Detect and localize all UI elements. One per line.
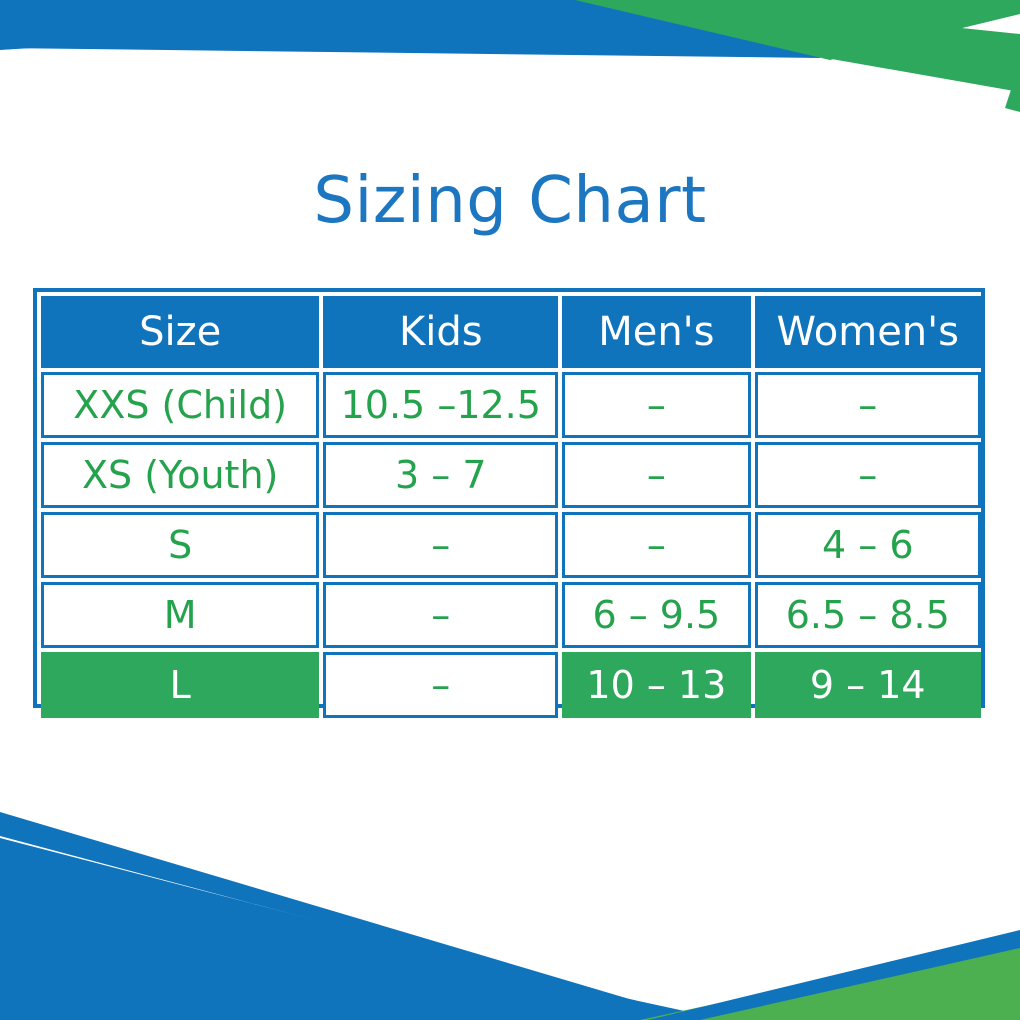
top-right-green-band-1 bbox=[575, 0, 1020, 60]
sizing-chart-table: Size Kids Men's Women's XXS (Child) 10.5… bbox=[37, 292, 985, 722]
bottom-left-blue-wedge bbox=[0, 838, 700, 1020]
bottom-right-blue-edge bbox=[648, 930, 1020, 1020]
cell-womens: 9 – 14 bbox=[755, 652, 981, 718]
cell-kids: – bbox=[323, 512, 558, 578]
cell-mens: – bbox=[562, 372, 750, 438]
column-header-size: Size bbox=[41, 296, 319, 368]
bottom-right-green-wedge bbox=[640, 938, 1020, 1020]
cell-womens: – bbox=[755, 372, 981, 438]
top-left-blue-wedge bbox=[0, 0, 800, 50]
cell-size: L bbox=[41, 652, 319, 718]
column-header-kids: Kids bbox=[323, 296, 558, 368]
table-row: M – 6 – 9.5 6.5 – 8.5 bbox=[41, 582, 981, 648]
cell-mens: – bbox=[562, 512, 750, 578]
sizing-table-container: Size Kids Men's Women's XXS (Child) 10.5… bbox=[37, 292, 985, 722]
page-title: Sizing Chart bbox=[0, 168, 1020, 235]
top-right-green-band-2 bbox=[690, 0, 1020, 92]
cell-kids: 10.5 –12.5 bbox=[323, 372, 558, 438]
top-right-green-band-3 bbox=[1005, 62, 1020, 112]
sizing-chart-page: Sizing Chart Size Kids Men's Women's XXS… bbox=[0, 0, 1020, 1020]
table-row: XXS (Child) 10.5 –12.5 – – bbox=[41, 372, 981, 438]
cell-womens: 6.5 – 8.5 bbox=[755, 582, 981, 648]
cell-size: XXS (Child) bbox=[41, 372, 319, 438]
table-row-highlighted: L – 10 – 13 9 – 14 bbox=[41, 652, 981, 718]
cell-size: XS (Youth) bbox=[41, 442, 319, 508]
cell-womens: 4 – 6 bbox=[755, 512, 981, 578]
column-header-womens: Women's bbox=[755, 296, 981, 368]
bottom-blue-main bbox=[0, 862, 726, 1020]
cell-kids: – bbox=[323, 652, 558, 718]
cell-mens: 6 – 9.5 bbox=[562, 582, 750, 648]
table-header-row: Size Kids Men's Women's bbox=[41, 296, 981, 368]
cell-kids: – bbox=[323, 582, 558, 648]
cell-mens: 10 – 13 bbox=[562, 652, 750, 718]
column-header-mens: Men's bbox=[562, 296, 750, 368]
cell-mens: – bbox=[562, 442, 750, 508]
bottom-blue-thin-band bbox=[0, 812, 700, 1020]
top-blue-wedge-body bbox=[0, 0, 820, 58]
cell-kids: 3 – 7 bbox=[323, 442, 558, 508]
cell-size: M bbox=[41, 582, 319, 648]
table-row: S – – 4 – 6 bbox=[41, 512, 981, 578]
cell-womens: – bbox=[755, 442, 981, 508]
cell-size: S bbox=[41, 512, 319, 578]
table-row: XS (Youth) 3 – 7 – – bbox=[41, 442, 981, 508]
